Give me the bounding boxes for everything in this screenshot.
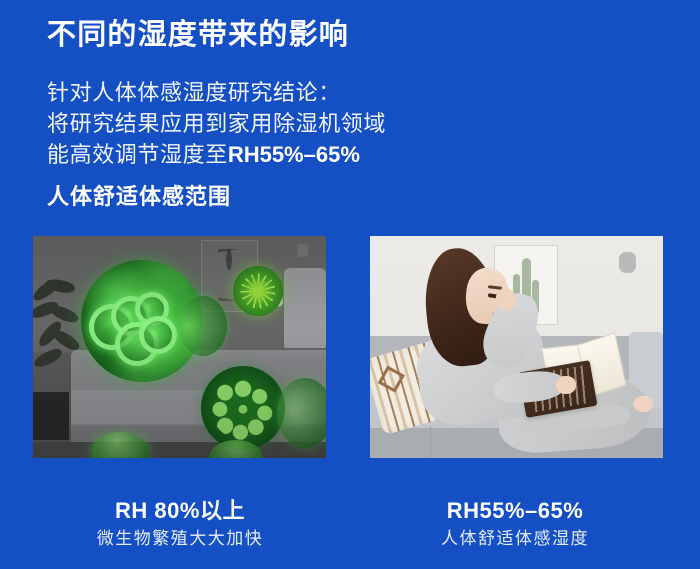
- microbe-partial-icon: [179, 296, 227, 356]
- floor-dim: [33, 442, 326, 458]
- woman-foot: [633, 396, 653, 412]
- wall-knob-icon: [297, 244, 308, 257]
- caption-comfort-humidity: RH55%–65% 人体舒适体感湿度: [355, 497, 675, 550]
- body-line-1: 针对人体体感湿度研究结论：: [47, 78, 467, 108]
- body-line-2: 将研究结果应用到家用除湿机领域: [47, 109, 467, 139]
- caption-sub-comfort-humidity: 人体舒适体感湿度: [355, 528, 675, 550]
- sofa-arm-dim: [284, 268, 326, 348]
- comparison-panels: [0, 236, 700, 458]
- woman-reading: [370, 236, 663, 458]
- microbe-spikes: [239, 272, 277, 310]
- microbe-spiky-icon: [233, 266, 283, 316]
- microbe-partial-icon: [277, 378, 326, 448]
- panel-captions: RH 80%以上 微生物繁殖大大加快 RH55%–65% 人体舒适体感湿度: [0, 497, 700, 567]
- microbe-rings: [211, 376, 275, 440]
- body-copy-block: 针对人体体感湿度研究结论： 将研究结果应用到家用除湿机领域 能高效调节湿度至RH…: [47, 78, 467, 212]
- humidity-effect-poster: 不同的湿度带来的影响 针对人体体感湿度研究结论： 将研究结果应用到家用除湿机领域…: [0, 0, 700, 569]
- body-line-4: 人体舒适体感范围: [47, 182, 467, 212]
- caption-sub-high-humidity: 微生物繁殖大大加快: [20, 528, 340, 550]
- bright-living-room-scene: [370, 236, 663, 458]
- caption-title-high-humidity: RH 80%以上: [20, 497, 340, 525]
- page-title: 不同的湿度带来的影响: [47, 17, 349, 53]
- panel-high-humidity-image: [33, 236, 326, 458]
- body-line-3-prefix: 能高效调节湿度至: [47, 142, 228, 167]
- leaf-icon: [33, 346, 64, 369]
- caption-title-comfort-humidity: RH55%–65%: [355, 497, 675, 525]
- woman-hand-holding-book: [556, 376, 576, 394]
- microbe-ringed-icon: [201, 366, 285, 450]
- panel-comfort-humidity-image: [370, 236, 663, 458]
- plant-pot: [33, 392, 69, 440]
- body-line-3: 能高效调节湿度至RH55%–65%: [47, 140, 467, 170]
- humidity-range-emphasis: RH55%–65%: [228, 142, 360, 167]
- microbe-cell-icon: [139, 316, 177, 354]
- caption-high-humidity: RH 80%以上 微生物繁殖大大加快: [20, 497, 340, 550]
- dim-living-room-scene: [33, 236, 326, 458]
